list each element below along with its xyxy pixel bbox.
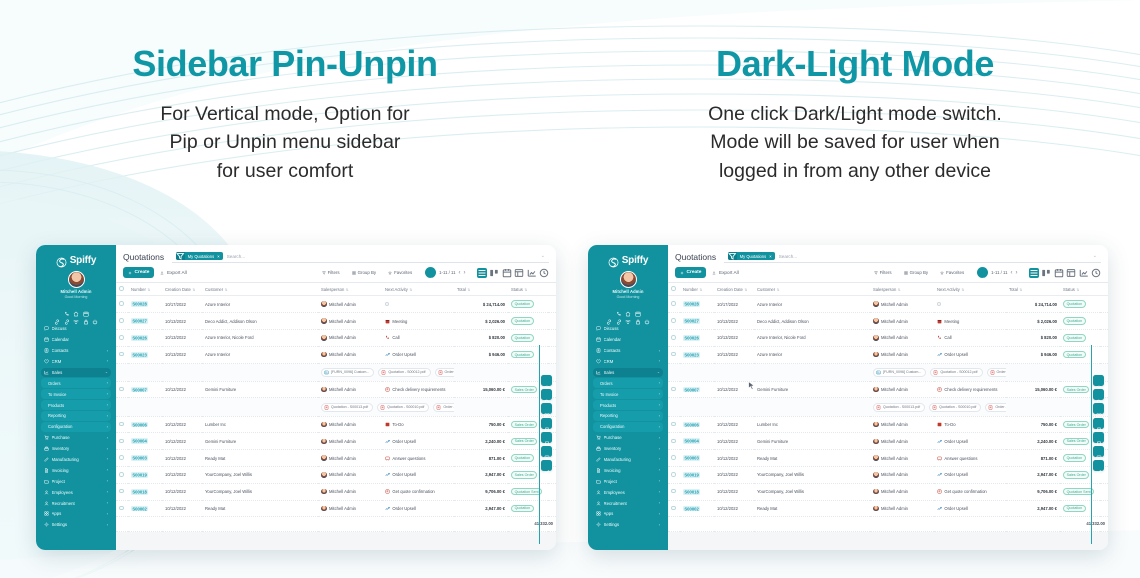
rail-button-print[interactable] xyxy=(541,418,552,429)
cell-next-activity: Order Upsell xyxy=(382,500,454,517)
cell-customer: Azure Interior xyxy=(754,346,870,363)
sidebar-item-calendar[interactable]: Calendar xyxy=(593,335,663,345)
row-checkbox[interactable] xyxy=(116,346,128,363)
column-header-number[interactable]: Number⇅ xyxy=(128,283,162,296)
sidebar-item-crm[interactable]: CRM › xyxy=(41,357,111,367)
row-checkbox[interactable] xyxy=(668,500,680,517)
mouse-cursor xyxy=(748,378,755,388)
total-amount: $ 820.00 xyxy=(489,335,505,340)
rail-button-settings-gear[interactable] xyxy=(1093,375,1104,386)
chevron-icon: › xyxy=(107,436,108,440)
close-icon[interactable]: × xyxy=(217,254,221,259)
table-row[interactable]: S00027 10/13/2022 Deco Addict, Addison O… xyxy=(668,313,1108,330)
grid-icon xyxy=(352,271,356,275)
row-checkbox[interactable] xyxy=(116,433,128,450)
total-amount: 871.00 € xyxy=(489,456,505,461)
cell-total: 2,947.00 € xyxy=(1006,500,1060,517)
column-header-next-activity[interactable]: Next Activity⇅ xyxy=(934,283,1006,296)
headline-sub-line: Mode will be saved for user when xyxy=(570,128,1140,157)
attachment-chip[interactable]: Order - S00016.pdf xyxy=(435,368,454,377)
cell-customer: Ready Mat xyxy=(754,450,870,467)
sidebar-item-label: Purchase xyxy=(52,435,105,440)
app-screenshot-right: Spiffy Mitchell Admin Good Morning Discu… xyxy=(588,245,1108,550)
activity-label: Meeting xyxy=(944,319,959,324)
pager-next-button[interactable]: › xyxy=(1016,270,1018,276)
table-row[interactable]: S00026 10/13/2022 Azure Interior, Nicole… xyxy=(116,329,556,346)
brand[interactable]: Spiffy xyxy=(593,252,663,271)
column-header-creation-date[interactable]: Creation Date⇅ xyxy=(162,283,202,296)
table-row[interactable]: S00007 10/12/2022 Gemini Furniture Mitch… xyxy=(116,381,556,398)
sidebar-item-orders[interactable]: Orders › xyxy=(41,378,111,388)
table-row[interactable]: S00004 10/12/2022 Gemini Furniture Mitch… xyxy=(116,433,556,450)
group-by-button[interactable]: Group By xyxy=(349,268,380,278)
select-all-header[interactable] xyxy=(116,283,128,296)
filters-button[interactable]: Filters xyxy=(319,268,343,278)
table-row[interactable]: S00019 10/12/2022 YourCompany, Joel Will… xyxy=(668,467,1108,484)
column-header-options[interactable] xyxy=(1100,283,1108,296)
sidebar-item-orders[interactable]: Orders › xyxy=(593,378,663,388)
rail-button-note[interactable] xyxy=(541,446,552,457)
row-checkbox[interactable] xyxy=(116,467,128,484)
lock-icon[interactable] xyxy=(635,312,641,318)
checkbox-icon[interactable] xyxy=(671,506,676,511)
checkbox-icon[interactable] xyxy=(119,506,124,511)
salesperson-name: Mitchell Admin xyxy=(881,422,908,427)
grand-total: 41,332.00 xyxy=(668,517,1108,531)
view-button-pivot-view[interactable] xyxy=(514,268,524,278)
column-header-customer[interactable]: Customer⇅ xyxy=(202,283,318,296)
sidebar-item-contacts[interactable]: Contacts › xyxy=(41,346,111,356)
sidebar-item-settings[interactable]: Settings › xyxy=(593,520,663,530)
todo-icon xyxy=(385,422,390,427)
checkbox-icon[interactable] xyxy=(671,352,676,357)
sidebar-item-sales[interactable]: Sales ⌄ xyxy=(41,368,111,378)
attachment-chip[interactable]: Quotation - S00012.pdf xyxy=(930,368,982,377)
sidebar-item-to-invoice[interactable]: To Invoice › xyxy=(41,389,111,399)
chevron-icon: › xyxy=(659,523,660,527)
power-icon[interactable] xyxy=(92,312,98,318)
favorites-button[interactable]: Favorites xyxy=(937,268,967,278)
checkbox-icon[interactable] xyxy=(119,422,124,427)
cell-number: S00006 xyxy=(128,416,162,433)
checkbox-icon[interactable] xyxy=(671,301,676,306)
upsell-icon xyxy=(385,472,390,477)
attachment-chip[interactable]: [FURN_0096] Custom... xyxy=(321,368,374,377)
cell-next-activity: Meeting xyxy=(382,313,454,330)
user-profile[interactable]: Mitchell Admin Good Morning xyxy=(41,271,111,302)
refresh-button[interactable] xyxy=(977,267,988,278)
calendar-icon[interactable] xyxy=(83,304,89,310)
column-header-options[interactable] xyxy=(548,283,556,296)
search-facet[interactable]: My Quotations × xyxy=(176,252,223,261)
row-checkbox[interactable] xyxy=(668,433,680,450)
view-button-activity-view[interactable] xyxy=(1091,268,1101,278)
total-amount: 9,706.00 € xyxy=(485,489,505,494)
sidebar-item-products[interactable]: Products › xyxy=(41,400,111,410)
table-row[interactable]: S00018 10/12/2022 YourCompany, Joel Will… xyxy=(116,483,556,500)
table-row[interactable]: S00028 10/17/2022 Azure Interior Mitchel… xyxy=(668,296,1108,313)
row-checkbox[interactable] xyxy=(668,467,680,484)
close-icon[interactable]: × xyxy=(769,254,773,259)
rail-button-bookmark[interactable] xyxy=(541,432,552,443)
view-button-graph-view[interactable] xyxy=(527,268,537,278)
phone-icon[interactable] xyxy=(64,304,70,310)
sidebar-item-calendar[interactable]: Calendar xyxy=(41,335,111,345)
sidebar-item-label: Sales xyxy=(604,370,655,375)
status-badge: Quotation Sent xyxy=(511,488,542,496)
column-header-label: Creation Date xyxy=(165,287,191,292)
sidebar-item-project[interactable]: Project › xyxy=(593,476,663,486)
attachment-chip[interactable]: Quotation - S00010.pdf xyxy=(377,403,429,412)
filters-button[interactable]: Filters xyxy=(871,268,895,278)
row-checkbox[interactable] xyxy=(116,500,128,517)
quick-icon-row-1 xyxy=(64,304,89,310)
checkbox-icon[interactable] xyxy=(671,335,676,340)
meeting-icon xyxy=(937,319,942,324)
cell-salesperson: Mitchell Admin xyxy=(318,450,382,467)
checkbox-icon[interactable] xyxy=(671,286,676,291)
wifi-icon[interactable] xyxy=(625,312,631,318)
headline-sub-left: For Vertical mode, Option for Pip or Unp… xyxy=(0,100,570,186)
total-amount: $ 2,026.00 xyxy=(485,319,505,324)
table-row[interactable]: S00023 10/13/2022 Azure Interior Mitchel… xyxy=(668,346,1108,363)
checkbox-icon[interactable] xyxy=(671,439,676,444)
cell-number: S00018 xyxy=(128,483,162,500)
cell-customer: YourCompany, Joel Willis xyxy=(754,483,870,500)
control-panel-top-row: Quotations My Quotations × Search... ⌄ xyxy=(675,250,1101,263)
status-badge: Quotation Sent xyxy=(1063,488,1094,496)
sidebar-item-settings[interactable]: Settings › xyxy=(41,520,111,530)
checkbox-icon[interactable] xyxy=(119,387,124,392)
create-button[interactable]: Create xyxy=(123,267,154,278)
checkbox-icon[interactable] xyxy=(119,455,124,460)
checkbox-icon[interactable] xyxy=(671,472,676,477)
sidebar-item-manufacturing[interactable]: Manufacturing › xyxy=(593,455,663,465)
search-facet[interactable]: My Quotations × xyxy=(728,252,775,261)
sidebar-item-configuration[interactable]: Configuration › xyxy=(41,422,111,432)
sidebar-item-recruitment[interactable]: Recruitment › xyxy=(41,498,111,508)
select-all-header[interactable] xyxy=(668,283,680,296)
cell-salesperson: Mitchell Admin xyxy=(870,500,934,517)
sidebar-item-discuss[interactable]: Discuss xyxy=(41,324,111,334)
row-checkbox[interactable] xyxy=(116,416,128,433)
link-icon[interactable] xyxy=(616,312,622,318)
sidebar-item-purchase[interactable]: Purchase › xyxy=(593,433,663,443)
sidebar-item-reporting[interactable]: Reporting › xyxy=(41,411,111,421)
sidebar-item-label: Project xyxy=(52,479,105,484)
row-checkbox[interactable] xyxy=(668,313,680,330)
checkbox-icon[interactable] xyxy=(119,286,124,291)
column-header-label: Total xyxy=(1009,287,1018,292)
view-button-list-view[interactable] xyxy=(1029,268,1039,278)
sidebar-item-apps[interactable]: Apps › xyxy=(593,509,663,519)
apps-icon xyxy=(44,511,49,516)
row-checkbox[interactable] xyxy=(116,329,128,346)
view-button-graph-view[interactable] xyxy=(1079,268,1089,278)
pager-next-button[interactable]: › xyxy=(464,270,466,276)
column-header-next-activity[interactable]: Next Activity⇅ xyxy=(382,283,454,296)
meeting-icon xyxy=(385,319,390,324)
user-avatar[interactable] xyxy=(68,271,85,288)
pager-value: 1-11 / 11 xyxy=(991,270,1007,275)
cell-customer: Deco Addict, Addison Olson xyxy=(202,313,318,330)
sidebar-item-label: Configuration xyxy=(48,424,104,429)
group-by-button[interactable]: Group By xyxy=(901,268,932,278)
cell-salesperson: Mitchell Admin xyxy=(870,296,934,313)
rail-button-print[interactable] xyxy=(1093,418,1104,429)
checkbox-icon[interactable] xyxy=(119,301,124,306)
sidebar-item-configuration[interactable]: Configuration › xyxy=(593,422,663,432)
favorites-button[interactable]: Favorites xyxy=(385,268,415,278)
view-switcher xyxy=(477,268,550,278)
table-row[interactable]: S00026 10/13/2022 Azure Interior, Nicole… xyxy=(668,329,1108,346)
row-checkbox[interactable] xyxy=(668,450,680,467)
sidebar-item-to-invoice[interactable]: To Invoice › xyxy=(593,389,663,399)
sidebar-item-label: To Invoice xyxy=(600,392,656,397)
view-button-calendar-view[interactable] xyxy=(502,268,512,278)
column-header-label: Next Activity xyxy=(385,287,408,292)
rail-button-grid[interactable] xyxy=(541,403,552,414)
table-row[interactable]: S00004 10/12/2022 Gemini Furniture Mitch… xyxy=(668,433,1108,450)
link-icon[interactable] xyxy=(64,312,70,318)
cell-total: $ 820.00 xyxy=(454,329,508,346)
user-avatar[interactable] xyxy=(620,271,637,288)
view-button-activity-view[interactable] xyxy=(539,268,549,278)
sidebar-item-invoicing[interactable]: Invoicing › xyxy=(593,466,663,476)
chevron-icon: ⌄ xyxy=(657,370,660,374)
table-row[interactable]: S00007 10/12/2022 Gemini Furniture Mitch… xyxy=(668,381,1108,398)
view-button-kanban-view[interactable] xyxy=(1041,268,1051,278)
sidebar-item-reporting[interactable]: Reporting › xyxy=(593,411,663,421)
sidebar-item-invoicing[interactable]: Invoicing › xyxy=(41,466,111,476)
row-checkbox[interactable] xyxy=(116,450,128,467)
checkbox-icon[interactable] xyxy=(119,335,124,340)
chevron-icon: › xyxy=(659,349,660,353)
rail-button-search[interactable] xyxy=(1093,389,1104,400)
sidebar-item-employees[interactable]: Employees › xyxy=(41,487,111,497)
chevron-icon: › xyxy=(659,436,660,440)
sidebar-item-apps[interactable]: Apps › xyxy=(41,509,111,519)
column-header-label: Salesperson xyxy=(873,287,896,292)
cell-creation-date: 10/12/2022 xyxy=(162,450,202,467)
cell-customer: Lumber Inc xyxy=(754,416,870,433)
attachment-chip[interactable]: Order - S00007.pdf xyxy=(985,403,1006,412)
chevron-icon: › xyxy=(107,381,108,385)
rail-button-note[interactable] xyxy=(1093,446,1104,457)
row-checkbox[interactable] xyxy=(668,483,680,500)
chevron-icon: › xyxy=(659,457,660,461)
sort-icon: ⇅ xyxy=(961,288,964,292)
sidebar-item-manufacturing[interactable]: Manufacturing › xyxy=(41,455,111,465)
attachment-chip[interactable]: Order - S00016.pdf xyxy=(987,368,1006,377)
checkbox-icon[interactable] xyxy=(671,387,676,392)
checkbox-icon[interactable] xyxy=(119,472,124,477)
attachment-chip[interactable]: Quotation - S00013.pdf xyxy=(873,403,925,412)
checkbox-icon[interactable] xyxy=(119,318,124,323)
cell-status: Quotation xyxy=(1060,296,1100,313)
user-name: Mitchell Admin xyxy=(60,289,91,294)
cell-number: S00027 xyxy=(128,313,162,330)
search-input[interactable]: Search... xyxy=(227,254,537,259)
cell-total: 750.00 € xyxy=(1006,416,1060,433)
sidebar-item-purchase[interactable]: Purchase › xyxy=(41,433,111,443)
column-header-total[interactable]: Total⇅ xyxy=(454,283,508,296)
link-icon[interactable] xyxy=(54,312,60,318)
cell-customer: Ready Mat xyxy=(754,500,870,517)
cell-number: S00002 xyxy=(680,500,714,517)
attachment-chip[interactable]: Order - S00007.pdf xyxy=(433,403,454,412)
search-input[interactable]: Search... xyxy=(779,254,1089,259)
salesperson-name: Mitchell Admin xyxy=(881,352,908,357)
status-badge: Sales Order xyxy=(511,386,537,394)
sort-icon: ⇅ xyxy=(699,288,702,292)
power-icon[interactable] xyxy=(644,312,650,318)
row-checkbox[interactable] xyxy=(116,313,128,330)
row-checkbox[interactable] xyxy=(668,346,680,363)
table-row[interactable]: S00006 10/12/2022 Lumber Inc Mitchell Ad… xyxy=(116,416,556,433)
sidebar-item-crm[interactable]: CRM › xyxy=(593,357,663,367)
column-header-total[interactable]: Total⇅ xyxy=(1006,283,1060,296)
table-row[interactable]: S00023 10/13/2022 Azure Interior Mitchel… xyxy=(116,346,556,363)
phone-icon[interactable] xyxy=(616,304,622,310)
search-bar[interactable]: My Quotations × Search... ⌄ xyxy=(724,250,1101,263)
file-icon xyxy=(436,405,441,410)
column-header-salesperson[interactable]: Salesperson⇅ xyxy=(870,283,934,296)
brand-name: Spiffy xyxy=(622,255,649,266)
sidebar-item-employees[interactable]: Employees › xyxy=(593,487,663,497)
checkbox-icon[interactable] xyxy=(671,489,676,494)
order-number: S00023 xyxy=(131,352,148,358)
status-badge: Quotation xyxy=(511,334,534,342)
cell-creation-date: 10/12/2022 xyxy=(714,500,754,517)
floating-action-rail xyxy=(1093,375,1104,471)
table-row[interactable]: S00018 10/12/2022 YourCompany, Joel Will… xyxy=(668,483,1108,500)
avatar xyxy=(321,506,327,512)
chevron-down-icon[interactable]: ⌄ xyxy=(541,253,545,259)
file-icon xyxy=(876,370,881,375)
checkbox-icon[interactable] xyxy=(671,422,676,427)
pager-prev-button[interactable]: ‹ xyxy=(459,270,461,276)
sidebar-item-products[interactable]: Products › xyxy=(593,400,663,410)
search-icon xyxy=(1096,392,1102,398)
column-header-salesperson[interactable]: Salesperson⇅ xyxy=(318,283,382,296)
attachment-chip[interactable]: Quotation - S00010.pdf xyxy=(929,403,981,412)
sidebar-item-inventory[interactable]: Inventory › xyxy=(41,444,111,454)
calendar-icon xyxy=(596,337,601,342)
cell-total: $ 946.00 xyxy=(454,346,508,363)
row-checkbox[interactable] xyxy=(116,296,128,313)
cell-salesperson: Mitchell Admin xyxy=(318,329,382,346)
refresh-button[interactable] xyxy=(425,267,436,278)
checkbox-icon[interactable] xyxy=(119,352,124,357)
row-checkbox[interactable] xyxy=(668,416,680,433)
column-header-number[interactable]: Number⇅ xyxy=(680,283,714,296)
cell-salesperson: Mitchell Admin xyxy=(870,467,934,484)
view-button-kanban-view[interactable] xyxy=(489,268,499,278)
sidebar-item-contacts[interactable]: Contacts › xyxy=(593,346,663,356)
rail-button-share[interactable] xyxy=(1093,460,1104,471)
order-number: S00006 xyxy=(683,422,700,428)
search-bar[interactable]: My Quotations × Search... ⌄ xyxy=(172,250,549,263)
export-all-button[interactable]: Export All xyxy=(160,270,186,275)
row-checkbox[interactable] xyxy=(668,381,680,398)
cell-next-activity: Order Upsell xyxy=(934,346,1006,363)
checkbox-icon[interactable] xyxy=(671,318,676,323)
headline-row: Sidebar Pin-Unpin For Vertical mode, Opt… xyxy=(0,0,1140,235)
attachment-row-spacer-2 xyxy=(680,398,870,416)
table-row[interactable]: S00006 10/12/2022 Lumber Inc Mitchell Ad… xyxy=(668,416,1108,433)
table-row[interactable]: S00028 10/17/2022 Azure Interior Mitchel… xyxy=(116,296,556,313)
cell-salesperson: Mitchell Admin xyxy=(318,296,382,313)
home-icon[interactable] xyxy=(73,304,79,310)
rail-button-search[interactable] xyxy=(541,389,552,400)
rail-button-share[interactable] xyxy=(541,460,552,471)
rail-button-settings-gear[interactable] xyxy=(541,375,552,386)
row-checkbox[interactable] xyxy=(116,483,128,500)
lock-icon[interactable] xyxy=(83,312,89,318)
table-row[interactable]: S00003 10/12/2022 Ready Mat Mitchell Adm… xyxy=(668,450,1108,467)
view-button-calendar-view[interactable] xyxy=(1054,268,1064,278)
attachment-chip[interactable]: [FURN_0096] Custom... xyxy=(873,368,926,377)
table-row[interactable]: S00019 10/12/2022 YourCompany, Joel Will… xyxy=(116,467,556,484)
pager-prev-button[interactable]: ‹ xyxy=(1011,270,1013,276)
attachment-chip[interactable]: Quotation - S00013.pdf xyxy=(321,403,373,412)
view-button-list-view[interactable] xyxy=(477,268,487,278)
filter-icon xyxy=(176,252,185,261)
attachment-chip[interactable]: Quotation - S00012.pdf xyxy=(378,368,430,377)
checkbox-icon[interactable] xyxy=(671,455,676,460)
wifi-icon[interactable] xyxy=(73,312,79,318)
user-profile[interactable]: Mitchell Admin Good Morning xyxy=(593,271,663,302)
column-header-creation-date[interactable]: Creation Date⇅ xyxy=(714,283,754,296)
column-header-status[interactable]: Status⇅ xyxy=(1060,283,1100,296)
cell-status: Quotation xyxy=(1060,313,1100,330)
sidebar-item-recruitment[interactable]: Recruitment › xyxy=(593,498,663,508)
chevron-down-icon[interactable]: ⌄ xyxy=(1093,253,1097,259)
column-header-status[interactable]: Status⇅ xyxy=(508,283,548,296)
table-row[interactable]: S00003 10/12/2022 Ready Mat Mitchell Adm… xyxy=(116,450,556,467)
cell-creation-date: 10/13/2022 xyxy=(714,313,754,330)
table-row[interactable]: S00002 10/12/2022 Ready Mat Mitchell Adm… xyxy=(668,500,1108,517)
checkbox-icon[interactable] xyxy=(119,439,124,444)
brand[interactable]: Spiffy xyxy=(41,252,111,271)
sidebar-item-sales[interactable]: Sales ⌄ xyxy=(593,368,663,378)
rail-button-grid[interactable] xyxy=(1093,403,1104,414)
salesperson-name: Mitchell Admin xyxy=(329,506,356,511)
row-checkbox[interactable] xyxy=(116,381,128,398)
export-all-button[interactable]: Export All xyxy=(712,270,738,275)
sidebar-item-inventory[interactable]: Inventory › xyxy=(593,444,663,454)
activity-label: Order Upsell xyxy=(392,352,416,357)
rail-button-bookmark[interactable] xyxy=(1093,432,1104,443)
sidebar-item-discuss[interactable]: Discuss xyxy=(593,324,663,334)
row-checkbox[interactable] xyxy=(668,329,680,346)
view-button-pivot-view[interactable] xyxy=(1066,268,1076,278)
status-badge: Sales Order xyxy=(511,421,537,429)
sidebar-item-project[interactable]: Project › xyxy=(41,476,111,486)
link-icon[interactable] xyxy=(606,312,612,318)
headline-right: Dark-Light Mode One click Dark/Light mod… xyxy=(570,0,1140,235)
row-checkbox[interactable] xyxy=(668,296,680,313)
column-header-customer[interactable]: Customer⇅ xyxy=(754,283,870,296)
home-icon[interactable] xyxy=(625,304,631,310)
create-button[interactable]: Create xyxy=(675,267,706,278)
table-row[interactable]: S00002 10/12/2022 Ready Mat Mitchell Adm… xyxy=(116,500,556,517)
calendar-icon[interactable] xyxy=(635,304,641,310)
checkbox-icon[interactable] xyxy=(119,489,124,494)
order-number: S00026 xyxy=(683,335,700,341)
table-row[interactable]: S00027 10/13/2022 Deco Addict, Addison O… xyxy=(116,313,556,330)
